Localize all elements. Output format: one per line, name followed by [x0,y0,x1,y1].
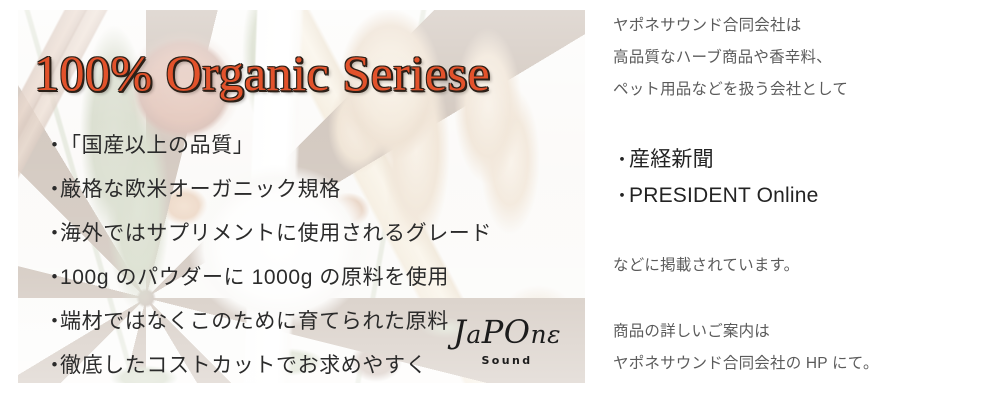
bullet-marker: ・ [44,212,60,256]
bullet-marker: ・ [44,124,60,168]
promo-banner: 100% Organic Seriese ・ 「国産以上の品質」 ・ 厳格な欧米… [18,10,585,383]
brand-letter: J [453,313,466,351]
brand-letter: P [482,313,504,351]
intro-line: ペット用品などを扱う会社として [613,74,848,106]
brand-logo: JaPOnε Sound [447,316,567,367]
bullet-marker: ・ [44,168,60,212]
brand-letter: O [504,313,531,351]
brand-letter: a [466,320,481,349]
list-item: ・ 海外ではサプリメントに使用されるグレード [44,212,579,256]
promo-feature-text: 端材ではなくこのために育てられた原料 [60,300,449,344]
intro-line: ヤポネサウンド合同会社は [613,10,848,42]
list-item: ・ 100g のパウダーに 1000g の原料を使用 [44,256,579,300]
promo-feature-text: 海外ではサプリメントに使用されるグレード [60,212,492,256]
brand-letter: ε [547,320,561,349]
hp-line: ヤポネサウンド合同会社の HP にて。 [613,348,879,380]
promo-feature-text: 100g のパウダーに 1000g の原料を使用 [60,256,449,300]
company-info-column: ヤポネサウンド合同会社は 高品質なハーブ商品や香辛料、 ペット用品などを扱う会社… [613,0,973,400]
promo-headline: 100% Organic Seriese [34,48,490,98]
list-item: ・ 「国産以上の品質」 [44,124,579,168]
homepage-note-block: 商品の詳しいご案内は ヤポネサウンド合同会社の HP にて。 [613,316,879,380]
bullet-marker: ・ [44,344,60,383]
media-outlet-name: 産経新聞 [629,142,714,178]
list-item: ・ PRESIDENT Online [613,178,819,214]
company-intro-block: ヤポネサウンド合同会社は 高品質なハーブ商品や香辛料、 ペット用品などを扱う会社… [613,10,848,106]
bullet-marker: ・ [44,256,60,300]
promo-content: 100% Organic Seriese ・ 「国産以上の品質」 ・ 厳格な欧米… [18,10,585,383]
brand-subtitle: Sound [447,354,567,367]
bullet-marker: ・ [613,142,629,178]
hp-line: 商品の詳しいご案内は [613,316,879,348]
intro-line: 高品質なハーブ商品や香辛料、 [613,42,848,74]
bullet-marker: ・ [613,178,629,214]
brand-letter: n [530,320,547,349]
brand-wordmark: JaPOnε [447,316,567,349]
list-item: ・ 厳格な欧米オーガニック規格 [44,168,579,212]
media-note-block: などに掲載されています。 [613,250,799,282]
promo-feature-text: 厳格な欧米オーガニック規格 [60,168,341,212]
promo-feature-text: 徹底したコストカットでお求めやすく [60,344,427,383]
list-item: ・ 産経新聞 [613,142,819,178]
promo-feature-text: 「国産以上の品質」 [60,124,254,168]
media-mentions-list: ・ 産経新聞 ・ PRESIDENT Online [613,142,819,214]
bullet-marker: ・ [44,300,60,344]
media-outlet-name: PRESIDENT Online [629,178,819,214]
note-line: などに掲載されています。 [613,250,799,282]
